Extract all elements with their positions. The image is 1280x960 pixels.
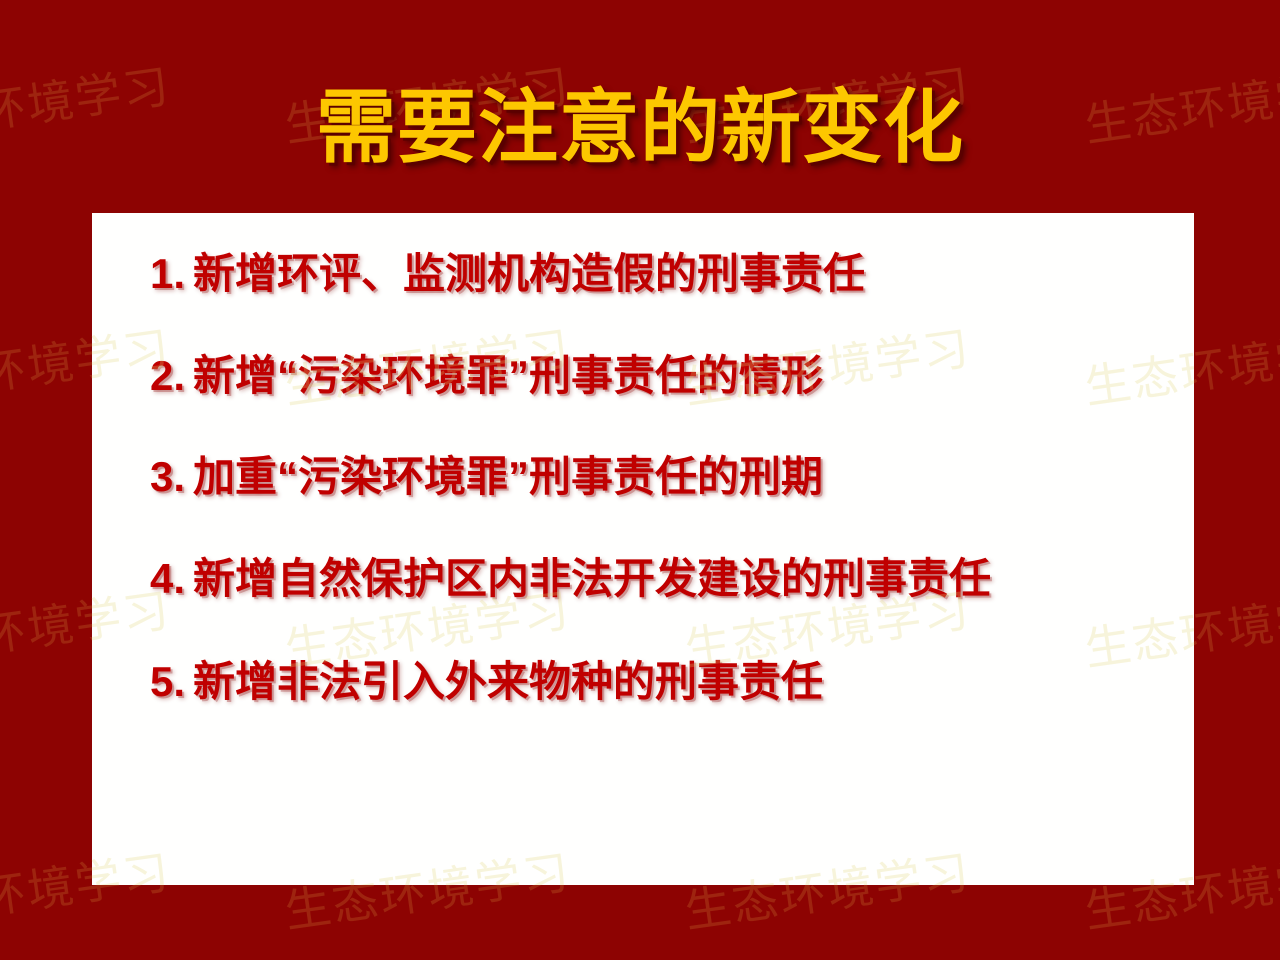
slide-title-container: 需要注意的新变化 bbox=[0, 88, 1280, 168]
watermark-text: 生态环境学习 bbox=[92, 836, 174, 885]
list-item-text: 新增非法引入外来物种的刑事责任 bbox=[193, 657, 823, 707]
list-item-text: 新增“污染环境罪”刑事责任的情形 bbox=[193, 351, 823, 401]
change-list: 1. 新增环评、监测机构造假的刑事责任 2. 新增“污染环境罪”刑事责任的情形 … bbox=[92, 249, 1194, 707]
list-item: 3. 加重“污染环境罪”刑事责任的刑期 bbox=[92, 452, 1194, 502]
slide-title: 需要注意的新变化 bbox=[316, 88, 964, 168]
list-item-number: 1. bbox=[150, 249, 185, 299]
list-item: 4. 新增自然保护区内非法开发建设的刑事责任 bbox=[92, 554, 1194, 604]
list-item-number: 5. bbox=[150, 657, 185, 707]
watermark-text: 生态环境学习 bbox=[1080, 836, 1194, 885]
list-item-text: 新增自然保护区内非法开发建设的刑事责任 bbox=[193, 554, 991, 604]
list-item-number: 2. bbox=[150, 351, 185, 401]
slide-canvas: 生态环境学习生态环境学习生态环境学习生态环境学习生态环境学习生态环境学习生态环境… bbox=[0, 0, 1280, 960]
list-item-number: 3. bbox=[150, 452, 185, 502]
watermark-text: 生态环境学习 bbox=[280, 836, 574, 885]
content-panel: 生态环境学习生态环境学习生态环境学习生态环境学习生态环境学习生态环境学习生态环境… bbox=[92, 213, 1194, 885]
watermark-text: 生态环境学习 bbox=[680, 836, 974, 885]
list-item-text: 加重“污染环境罪”刑事责任的刑期 bbox=[193, 452, 823, 502]
content-panel-inner: 1. 新增环评、监测机构造假的刑事责任 2. 新增“污染环境罪”刑事责任的情形 … bbox=[92, 213, 1194, 707]
list-item: 2. 新增“污染环境罪”刑事责任的情形 bbox=[92, 351, 1194, 401]
list-item-number: 4. bbox=[150, 554, 185, 604]
list-item: 5. 新增非法引入外来物种的刑事责任 bbox=[92, 657, 1194, 707]
list-item-text: 新增环评、监测机构造假的刑事责任 bbox=[193, 249, 865, 299]
list-item: 1. 新增环评、监测机构造假的刑事责任 bbox=[92, 249, 1194, 299]
